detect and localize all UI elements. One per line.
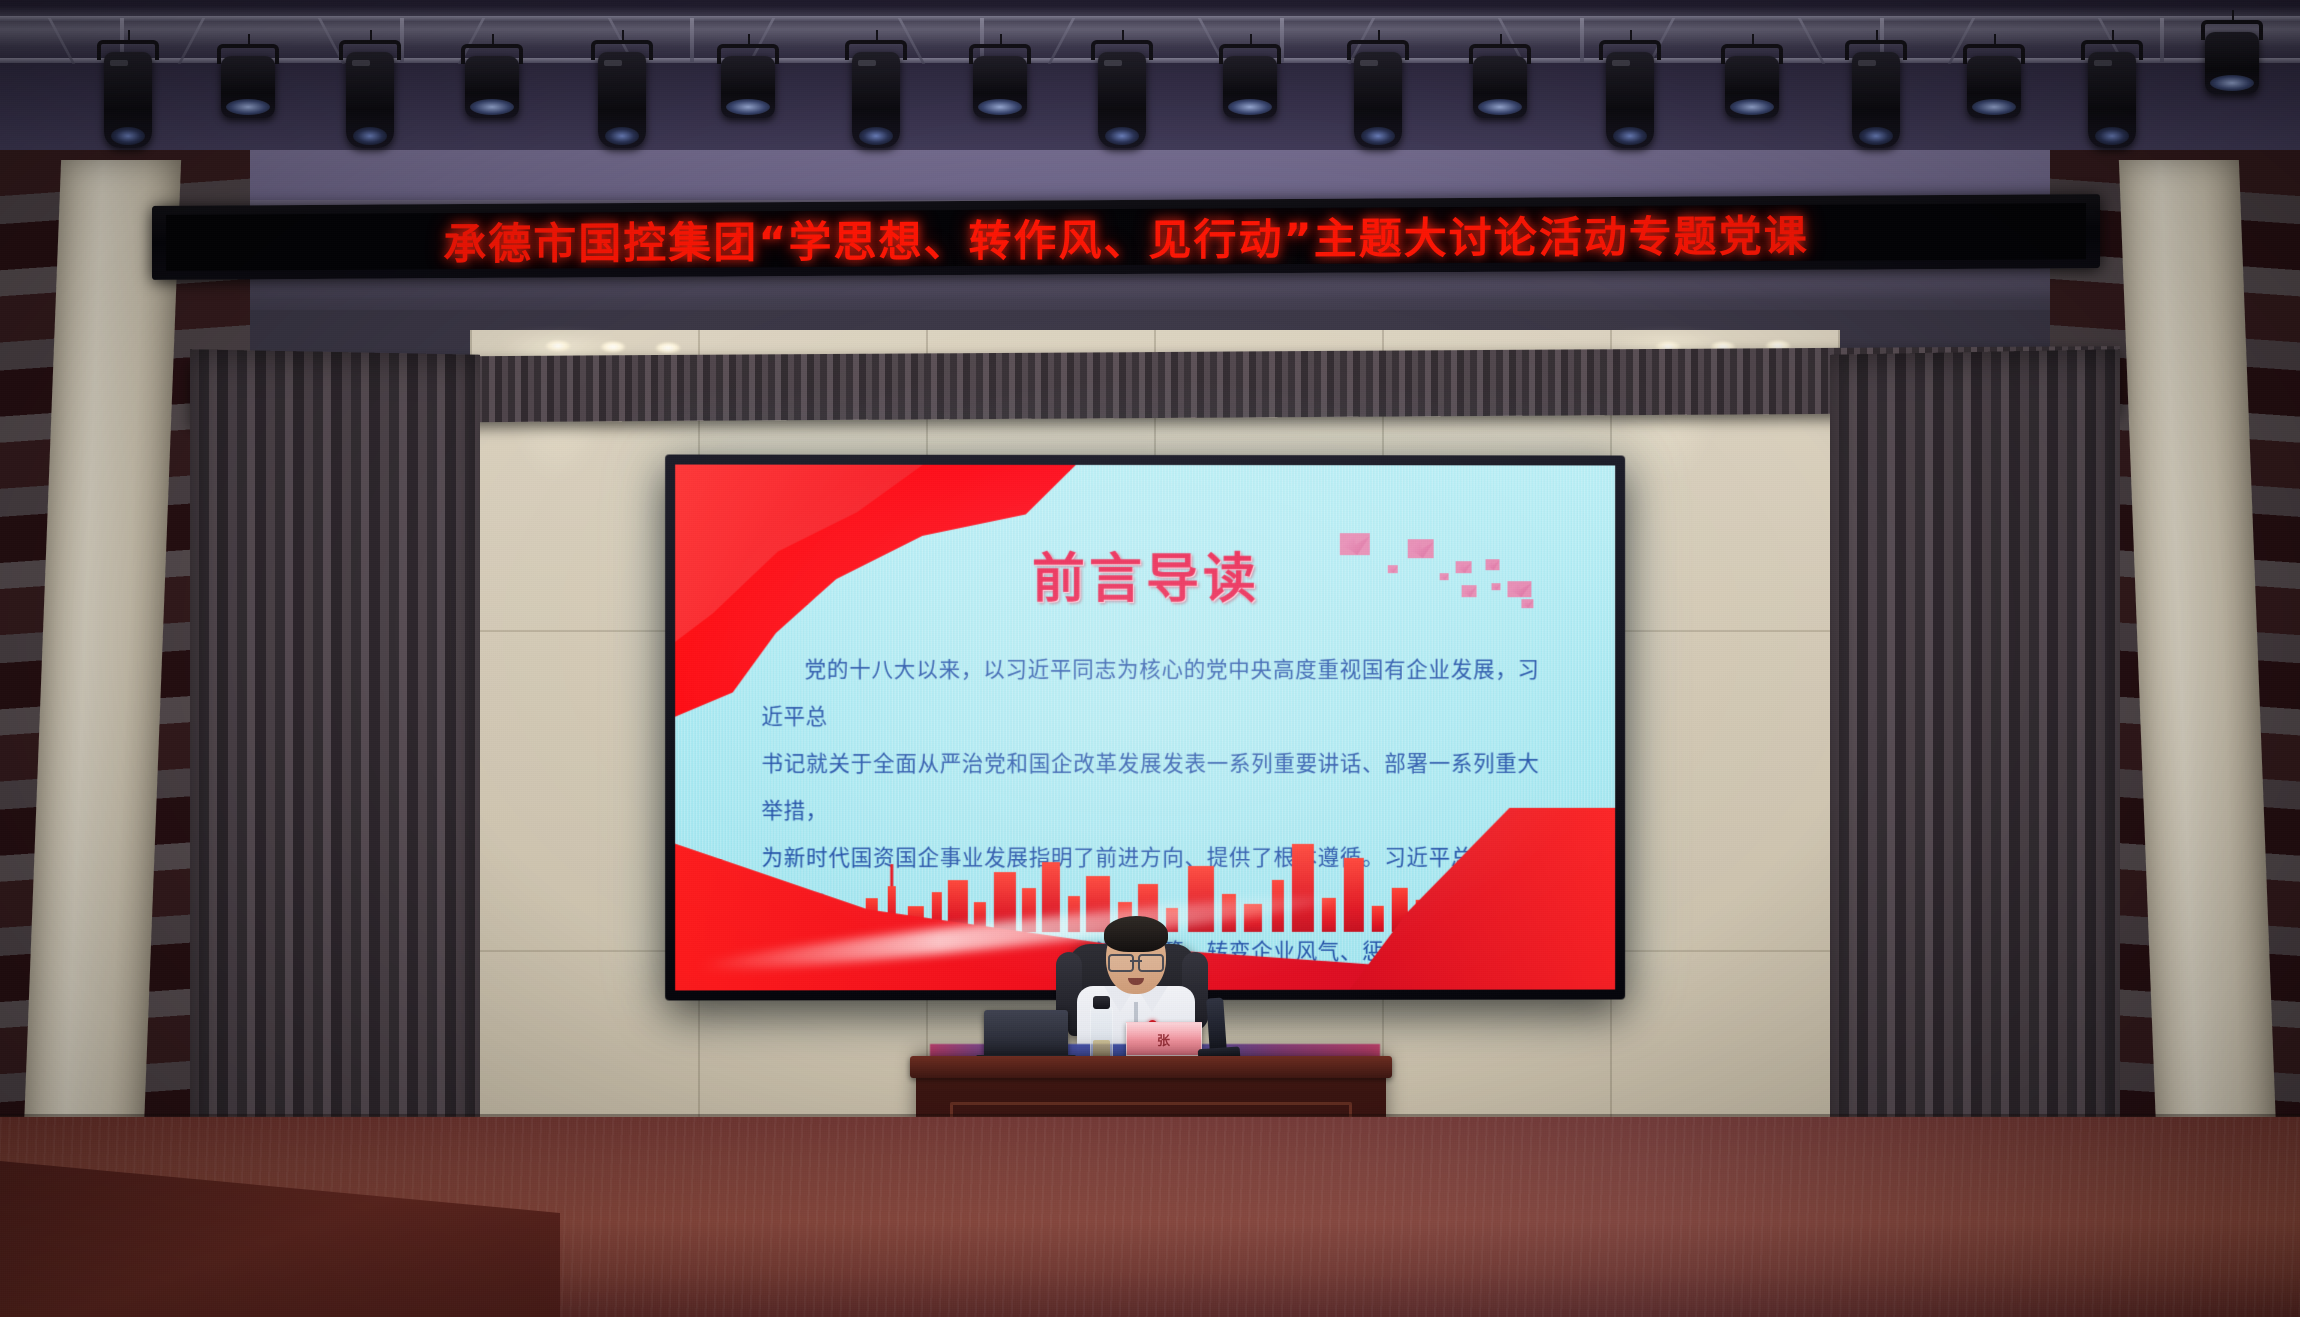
downlight — [545, 340, 571, 352]
downlight — [655, 342, 681, 354]
truss-vertical — [2160, 18, 2164, 62]
slide-surface: 前言导读 党的十八大以来，以习近平同志为核心的党中央高度重视国有企业发展，习近平… — [675, 465, 1615, 991]
led-banner-screen: 承德市国控集团“学思想、转作风、见行动”主题大讨论活动专题党课 — [166, 203, 2086, 271]
name-card: 张 — [1126, 1022, 1202, 1056]
led-banner-text: 承德市国控集团“学思想、转作风、见行动”主题大讨论活动专题党课 — [443, 203, 1809, 271]
laptop — [984, 1010, 1068, 1056]
truss-vertical — [1580, 18, 1584, 62]
led-banner: 承德市国控集团“学思想、转作风、见行动”主题大讨论活动专题党课 — [152, 194, 2100, 280]
truss-bar-top — [0, 16, 2300, 21]
slide-paragraph-line: 党的十八大以来，以习近平同志为核心的党中央高度重视国有企业发展，习近平总 — [761, 647, 1539, 741]
curtain-left — [190, 349, 480, 1235]
slide-title: 前言导读 — [675, 537, 1615, 614]
eyeglasses-icon — [1108, 954, 1164, 968]
auditorium-scene: 承德市国控集团“学思想、转作风、见行动”主题大讨论活动专题党课 — [0, 0, 2300, 1317]
truss-vertical — [690, 18, 694, 62]
downlight — [600, 341, 626, 353]
curtain-right — [1830, 349, 2120, 1235]
name-card-text: 张 — [1157, 1030, 1171, 1049]
